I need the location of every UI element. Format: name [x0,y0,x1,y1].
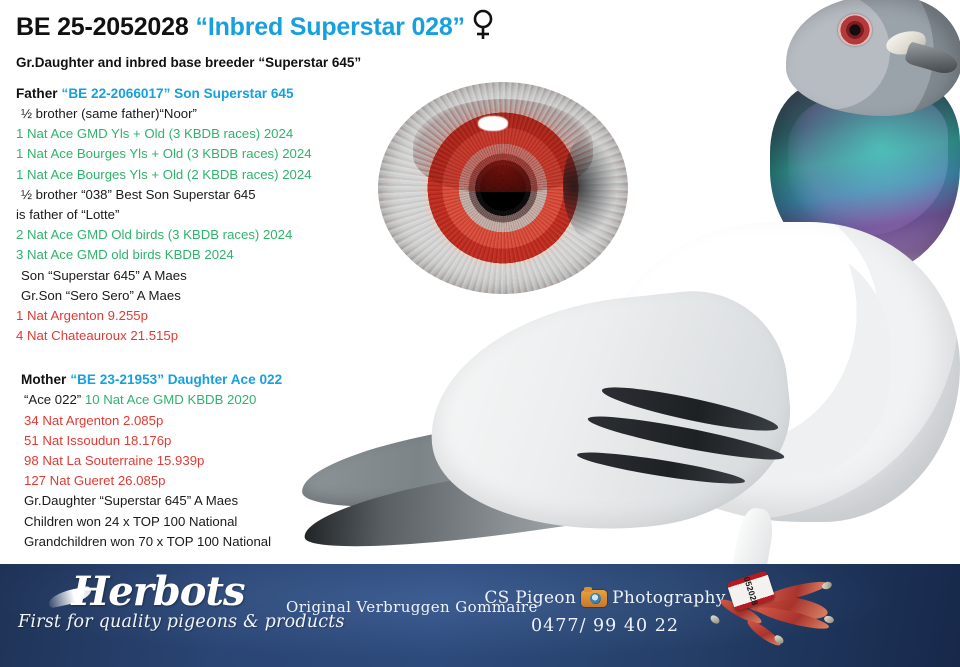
father-label: Father [16,86,58,101]
pigeon-wing [419,282,801,548]
father-line: 2 Nat Ace GMD Old birds (3 KBDB races) 2… [16,225,470,245]
father-line: Gr.Son “Sero Sero” A Maes [16,286,470,306]
pedigree-text-column: BE 25-2052028 “Inbred Superstar 028” Gr.… [0,0,470,552]
mother-line: Children won 24 x TOP 100 National [16,512,470,532]
photographer-name-post: Photography [612,588,726,608]
eye-highlight [478,116,508,131]
father-line: 4 Nat Chateauroux 21.515p [16,326,470,346]
father-block: Father“BE 22-2066017” Son Superstar 645 … [0,70,470,346]
father-line: 1 Nat Ace Bourges Yls + Old (3 KBDB race… [16,144,470,164]
mother-label: Mother [21,372,66,387]
page-subtitle: Gr.Daughter and inbred base breeder “Sup… [0,46,470,70]
father-line: ½ brother (same father)“Noor” [16,104,470,124]
mother-line: Gr.Daughter “Superstar 645” A Maes [16,491,470,511]
camera-icon [581,590,607,607]
mother-line: 51 Nat Issoudun 18.176p [16,431,470,451]
pigeon-neck-iridescence [788,96,948,236]
father-line: 1 Nat Ace Bourges Yls + Old (2 KBDB race… [16,165,470,185]
pigeon-wing-bar [576,447,746,489]
mother-ace-prefix: “Ace 022” [24,392,81,407]
bird-name: “Inbred Superstar 028” [196,13,465,42]
father-line: 1 Nat Ace GMD Yls + Old (3 KBDB races) 2… [16,124,470,144]
mother-line: 127 Nat Gueret 26.085p [16,471,470,491]
father-value: “BE 22-2066017” Son Superstar 645 [62,86,294,101]
ring-number: BE 25-2052028 [16,13,189,42]
photographer-name-row: CS Pigeon Photography [500,588,710,608]
father-line: 3 Nat Ace GMD old birds KBDB 2024 [16,245,470,265]
pigeon-body [600,222,960,522]
photographer-name-pre: CS Pigeon [484,588,576,608]
pigeon-wing-bar [600,380,781,439]
mother-line: 34 Nat Argenton 2.085p [16,411,470,431]
photographer-phone: 0477/ 99 40 22 [500,616,710,636]
pigeon-head [786,0,960,116]
father-line: 1 Nat Argenton 9.255p [16,306,470,326]
photographer-credit: CS Pigeon Photography 0477/ 99 40 22 [500,588,710,636]
father-header: Father“BE 22-2066017” Son Superstar 645 [16,83,470,104]
mother-header: Mother“BE 23-21953” Daughter Ace 022 [16,369,470,390]
mother-line: 98 Nat La Souterraine 15.939p [16,451,470,471]
father-line: ½ brother “038” Best Son Superstar 645 [16,185,470,205]
father-line: Son “Superstar 645” A Maes [16,266,470,286]
mother-block: Mother“BE 23-21953” Daughter Ace 022 “Ac… [0,346,470,552]
pigeon-beak [904,41,960,76]
leg-ring: 052028 [726,570,775,612]
mother-ace-line: “Ace 022” 10 Nat Ace GMD KBDB 2020 [16,390,470,410]
herbots-logo: Herbots First for quality pigeons & prod… [18,568,298,632]
pigeon-wing-bar [586,409,786,467]
father-line: is father of “Lotte” [16,205,470,225]
mother-value: “BE 23-21953” Daughter Ace 022 [70,372,282,387]
page-title: BE 25-2052028 “Inbred Superstar 028” [0,0,470,46]
pigeon-neck [770,84,960,274]
female-symbol-icon [473,9,493,46]
herbots-tagline: First for quality pigeons & products [18,612,298,632]
pigeon-cere [884,29,927,58]
mother-ace-title: 10 Nat Ace GMD KBDB 2020 [85,392,257,407]
pigeon-breast [640,240,890,480]
eye-dark-arc [563,133,618,239]
pigeon-eye [838,14,872,46]
mother-line: Grandchildren won 70 x TOP 100 National [16,532,470,552]
pedigree-card: BE 25-2052028 “Inbred Superstar 028” Gr.… [0,0,960,667]
